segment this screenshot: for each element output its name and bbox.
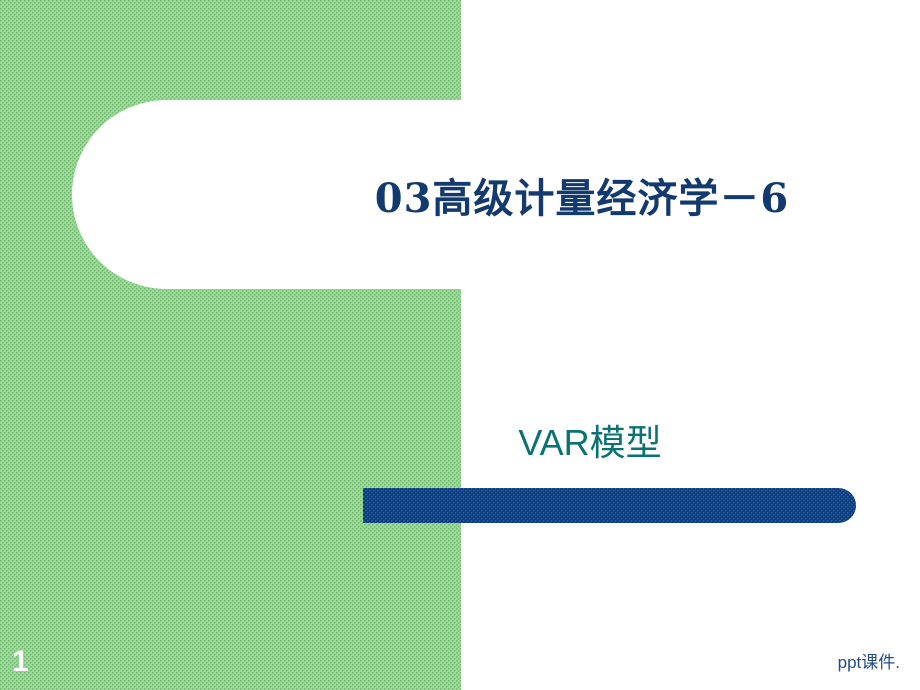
slide-title: 03高级计量经济学－6 <box>262 100 902 289</box>
accent-bar <box>363 488 856 523</box>
footer-credit: ppt课件. <box>700 652 900 674</box>
slide-subtitle: VAR模型 <box>380 420 800 466</box>
slide-number: 1 <box>12 645 29 679</box>
presentation-slide: 03高级计量经济学－6 VAR模型 1 ppt课件. <box>0 0 920 690</box>
title-banner-shape: 03高级计量经济学－6 <box>72 100 920 289</box>
